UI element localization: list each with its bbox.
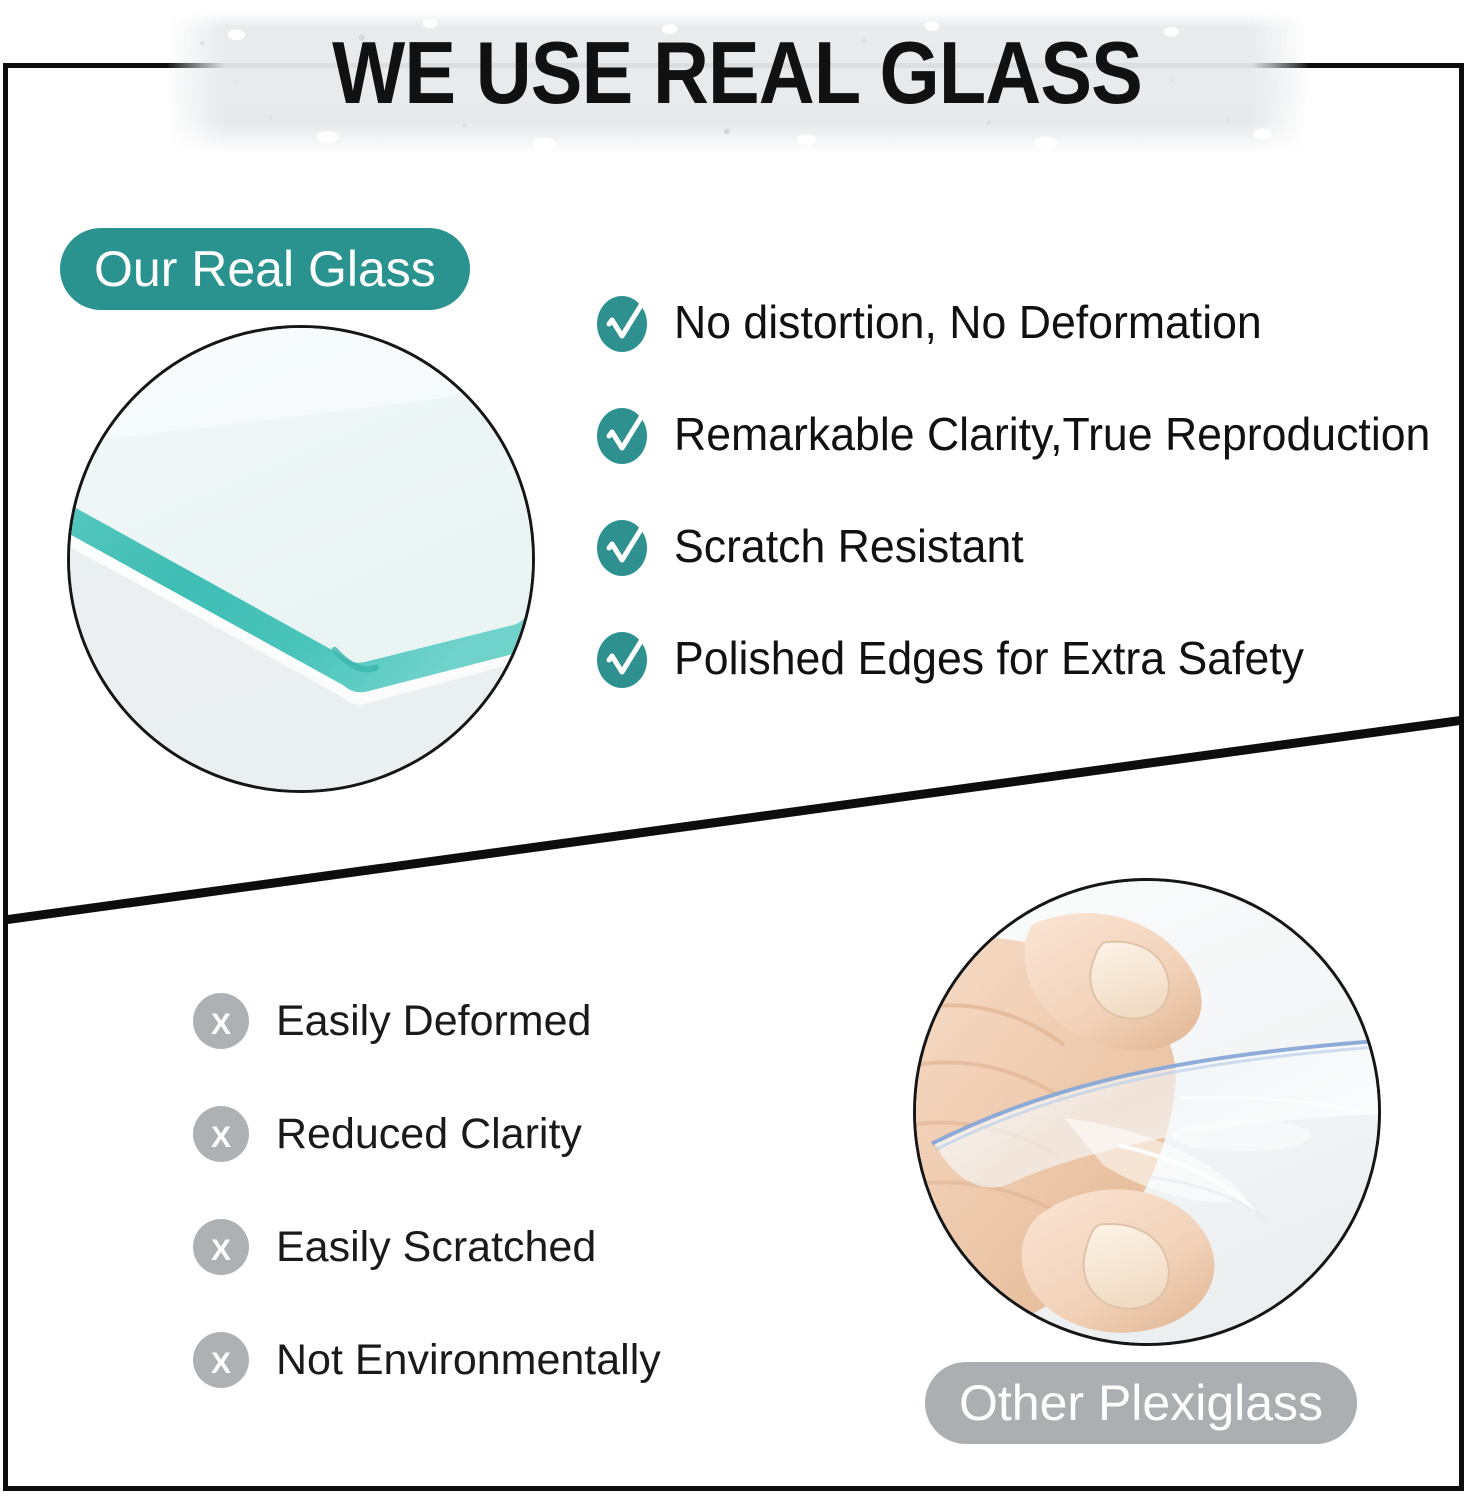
x-circle-icon: X bbox=[192, 1331, 250, 1389]
list-item: X Not Environmentally bbox=[192, 1331, 892, 1389]
badge-other-plexiglass-label: Other Plexiglass bbox=[959, 1378, 1323, 1428]
check-circle-icon bbox=[596, 291, 652, 353]
real-glass-photo bbox=[67, 325, 535, 793]
list-item-label: Easily Scratched bbox=[276, 1222, 596, 1272]
list-item-label: Scratch Resistant bbox=[674, 520, 1024, 572]
page-title: WE USE REAL GLASS bbox=[88, 24, 1385, 122]
badge-our-real-glass: Our Real Glass bbox=[60, 228, 470, 310]
list-item: X Easily Deformed bbox=[192, 992, 892, 1050]
list-item: Remarkable Clarity,True Reproduction bbox=[596, 402, 1456, 466]
list-item-label: Polished Edges for Extra Safety bbox=[674, 632, 1304, 684]
badge-our-real-glass-label: Our Real Glass bbox=[94, 244, 436, 294]
check-circle-icon bbox=[596, 627, 652, 689]
list-item-label: No distortion, No Deformation bbox=[674, 296, 1262, 348]
badge-other-plexiglass: Other Plexiglass bbox=[925, 1362, 1357, 1444]
plexiglass-photo bbox=[913, 878, 1381, 1346]
x-circle-icon: X bbox=[192, 992, 250, 1050]
x-circle-icon: X bbox=[192, 1105, 250, 1163]
check-circle-icon bbox=[596, 403, 652, 465]
svg-text:X: X bbox=[211, 1234, 231, 1267]
negative-feature-list: X Easily Deformed X Reduced Clarity X Ea bbox=[192, 992, 892, 1389]
svg-text:X: X bbox=[211, 1008, 231, 1041]
list-item-label: Easily Deformed bbox=[276, 996, 591, 1046]
list-item: Polished Edges for Extra Safety bbox=[596, 626, 1456, 690]
svg-text:X: X bbox=[211, 1347, 231, 1380]
list-item: X Easily Scratched bbox=[192, 1218, 892, 1276]
list-item: X Reduced Clarity bbox=[192, 1105, 892, 1163]
positive-feature-list: No distortion, No Deformation Remarkable… bbox=[596, 290, 1456, 690]
x-circle-icon: X bbox=[192, 1218, 250, 1276]
list-item-label: Reduced Clarity bbox=[276, 1109, 582, 1159]
check-circle-icon bbox=[596, 515, 652, 577]
list-item-label: Remarkable Clarity,True Reproduction bbox=[674, 408, 1430, 460]
infographic-page: WE USE REAL GLASS Our Real Glass bbox=[0, 0, 1474, 1500]
list-item: Scratch Resistant bbox=[596, 514, 1456, 578]
list-item: No distortion, No Deformation bbox=[596, 290, 1456, 354]
svg-text:X: X bbox=[211, 1121, 231, 1154]
list-item-label: Not Environmentally bbox=[276, 1335, 661, 1385]
